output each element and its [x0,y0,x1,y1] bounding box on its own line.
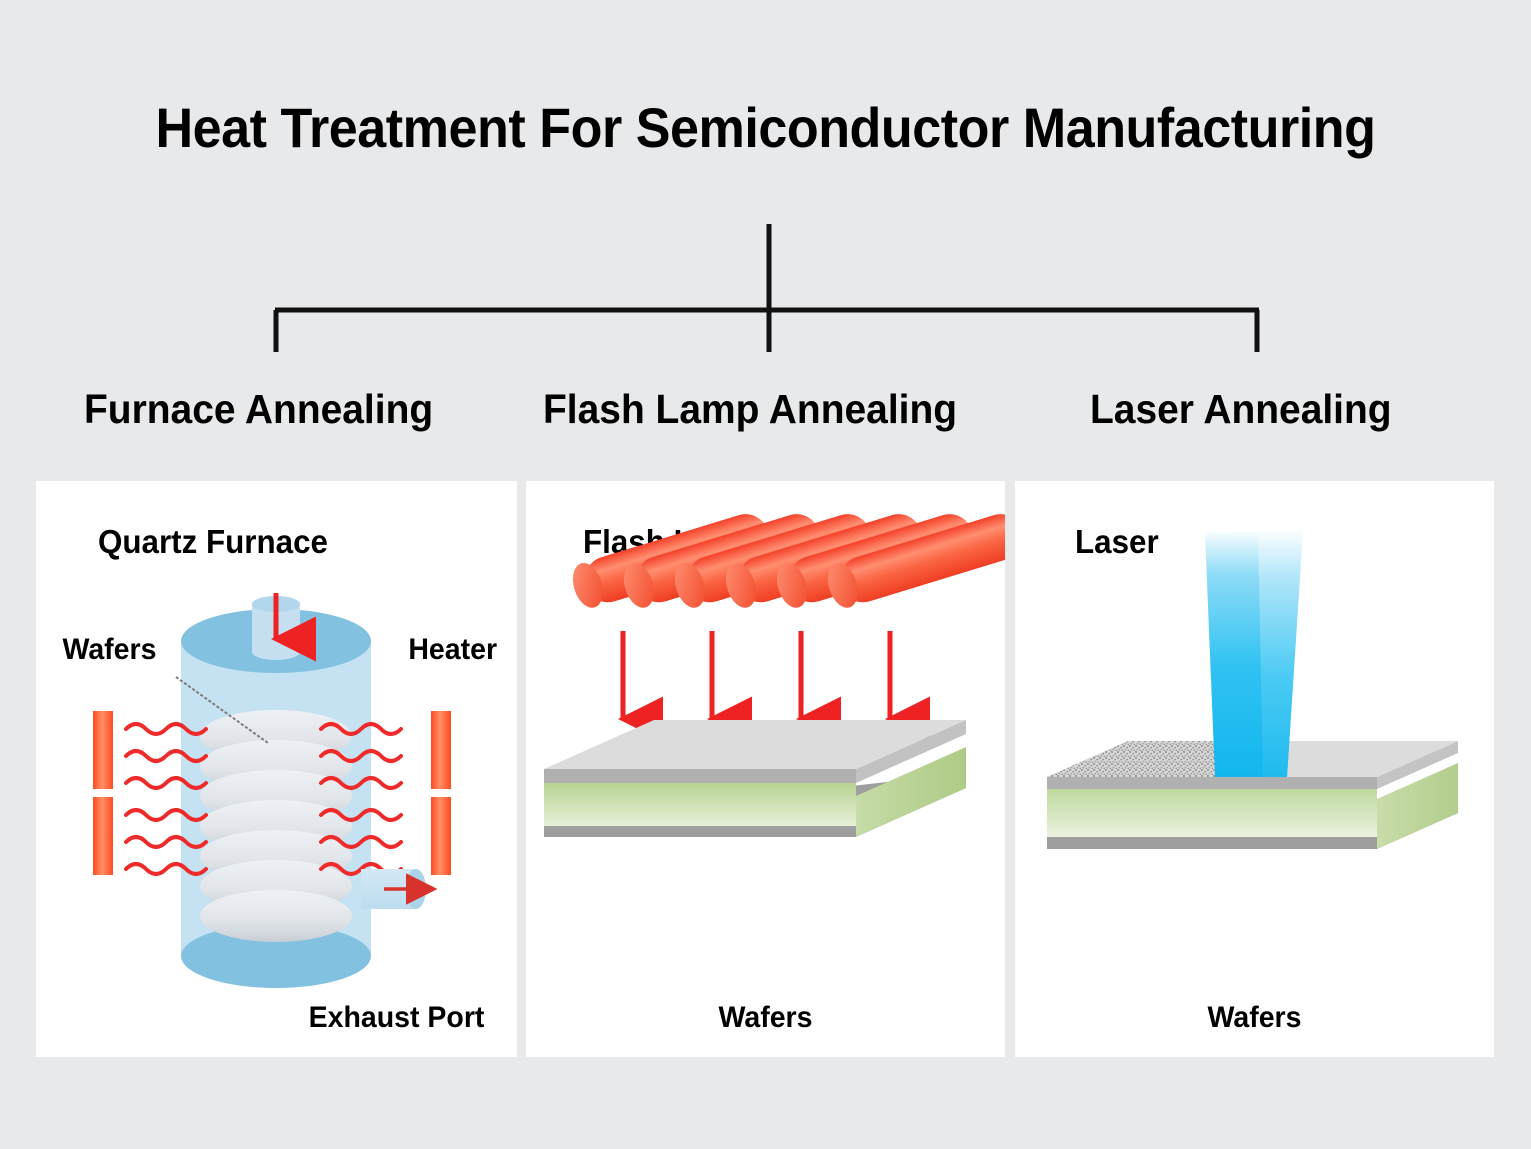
slab-front-gray [544,769,856,783]
flash-lamp-illustration [526,481,1005,1057]
branch-label-flash-lamp-annealing: Flash Lamp Annealing [543,386,957,433]
diagram-canvas: Heat Treatment For Semiconductor Manufac… [0,0,1531,1149]
tree-connector [0,0,1531,400]
annealed-textured-region [1047,741,1243,777]
wafer-stack [200,710,352,942]
flash-lamp-tubes [568,508,1005,611]
wafer-disc [200,890,352,942]
branch-label-furnace-annealing: Furnace Annealing [84,386,433,433]
slab-front-green [544,781,856,826]
panel-footer-exhaust-port: Exhaust Port [309,1001,485,1035]
wafer-slab [544,720,966,837]
beam-face-side [1258,529,1303,777]
heater-bar [93,711,113,789]
panel-laser-annealing: Laser [1015,481,1494,1057]
panel-footer-wafers: Wafers [538,1001,993,1035]
furnace-illustration [36,481,517,1057]
radiation-arrows [623,631,890,719]
heater-bar [431,711,451,789]
heater-bar [431,797,451,875]
heater-bar [93,797,113,875]
slab-front-gray [1047,777,1377,789]
laser-illustration [1015,481,1494,1057]
panel-furnace-annealing: Quartz Furnace Wafers Heater [36,481,517,1057]
laser-beam [1205,529,1303,777]
panel-flash-lamp-annealing: Flash Lamp [526,481,1005,1057]
slab-front-green [1047,787,1377,837]
heater-bars-left [93,711,113,875]
branch-label-laser-annealing: Laser Annealing [1090,386,1392,433]
heater-bars-right [431,711,451,875]
panel-footer-wafers: Wafers [1027,1001,1482,1035]
